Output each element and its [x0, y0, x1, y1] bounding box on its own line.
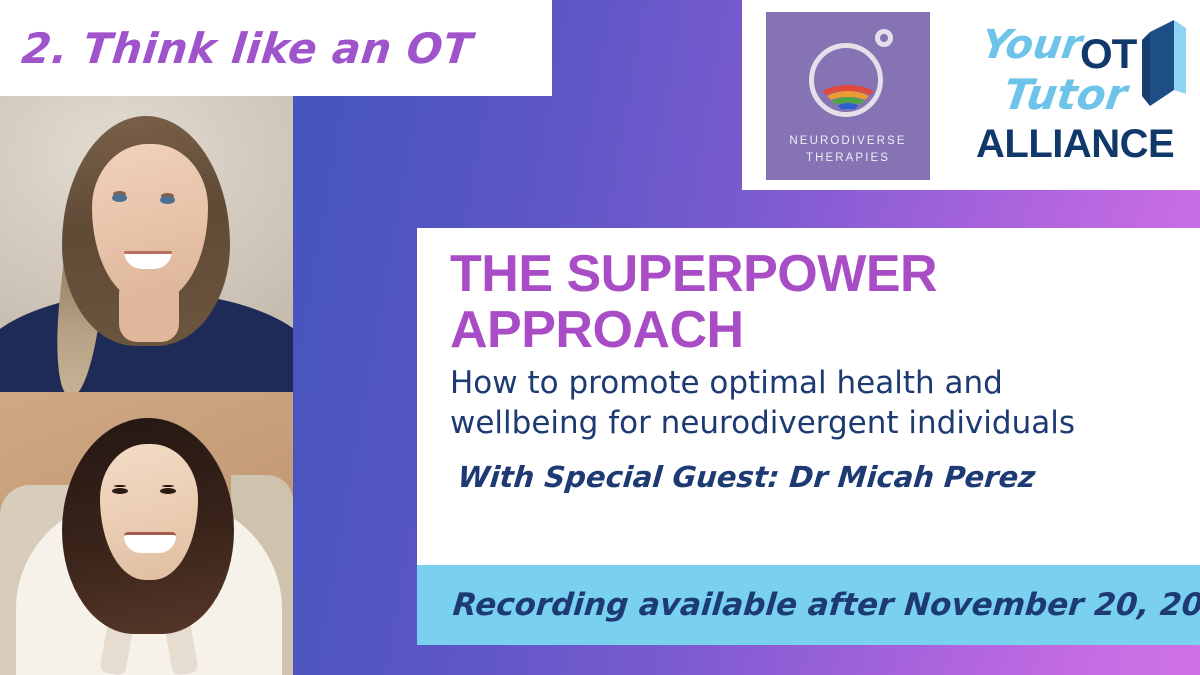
page-subtitle: How to promote optimal health and wellbe…: [450, 364, 1172, 443]
page-subtitle-line1: How to promote optimal health and: [450, 365, 1003, 401]
speaker-photo-host: [0, 96, 293, 392]
main-content-card: THE SUPERPOWER APPROACH How to promote o…: [417, 228, 1200, 565]
logo-word-alliance: ALLIANCE: [976, 122, 1174, 167]
recording-availability-text: Recording available after November 20, 2…: [451, 587, 1200, 623]
your-ot-tutor-alliance-logo: Your OT Tutor ALLIANCE: [974, 18, 1182, 168]
logo-word-your: Your: [979, 22, 1085, 68]
logo-panel: NEURODIVERSE THERAPIES Your OT Tutor ALL…: [742, 0, 1200, 190]
neurodiverse-logo-wordmark: NEURODIVERSE THERAPIES: [789, 133, 906, 166]
speaker-photos: [0, 96, 293, 675]
webinar-promo-slide: 2. Think like an OT: [0, 0, 1200, 675]
host-eye-right: [160, 196, 175, 204]
page-title-line2: APPROACH: [450, 301, 744, 359]
page-title-line1: THE SUPERPOWER: [450, 245, 937, 303]
neurodiverse-logo-line2: THERAPIES: [789, 150, 906, 167]
rainbow-arc-blue: [835, 103, 861, 117]
small-circle-icon: [875, 29, 893, 47]
neurodiverse-logo-line1: NEURODIVERSE: [789, 133, 906, 150]
page-subtitle-line2: wellbeing for neurodivergent individuals: [450, 405, 1075, 441]
neurodiverse-therapies-logo: NEURODIVERSE THERAPIES: [766, 12, 930, 180]
rainbow-in-circle-icon: [801, 27, 895, 123]
speaker-photo-guest: [0, 392, 293, 675]
logo-word-tutor: Tutor: [1001, 70, 1131, 119]
host-eye-left: [112, 194, 127, 202]
guest-eye-right: [160, 488, 176, 494]
guest-smile: [124, 532, 176, 553]
guest-eye-left: [112, 488, 128, 494]
special-guest-line: With Special Guest: Dr Micah Perez: [457, 460, 1174, 494]
recording-availability-band: Recording available after November 20, 2…: [417, 565, 1200, 645]
section-label-banner: 2. Think like an OT: [0, 0, 552, 96]
section-label-text: 2. Think like an OT: [19, 24, 474, 73]
page-title: THE SUPERPOWER APPROACH: [450, 246, 1172, 358]
